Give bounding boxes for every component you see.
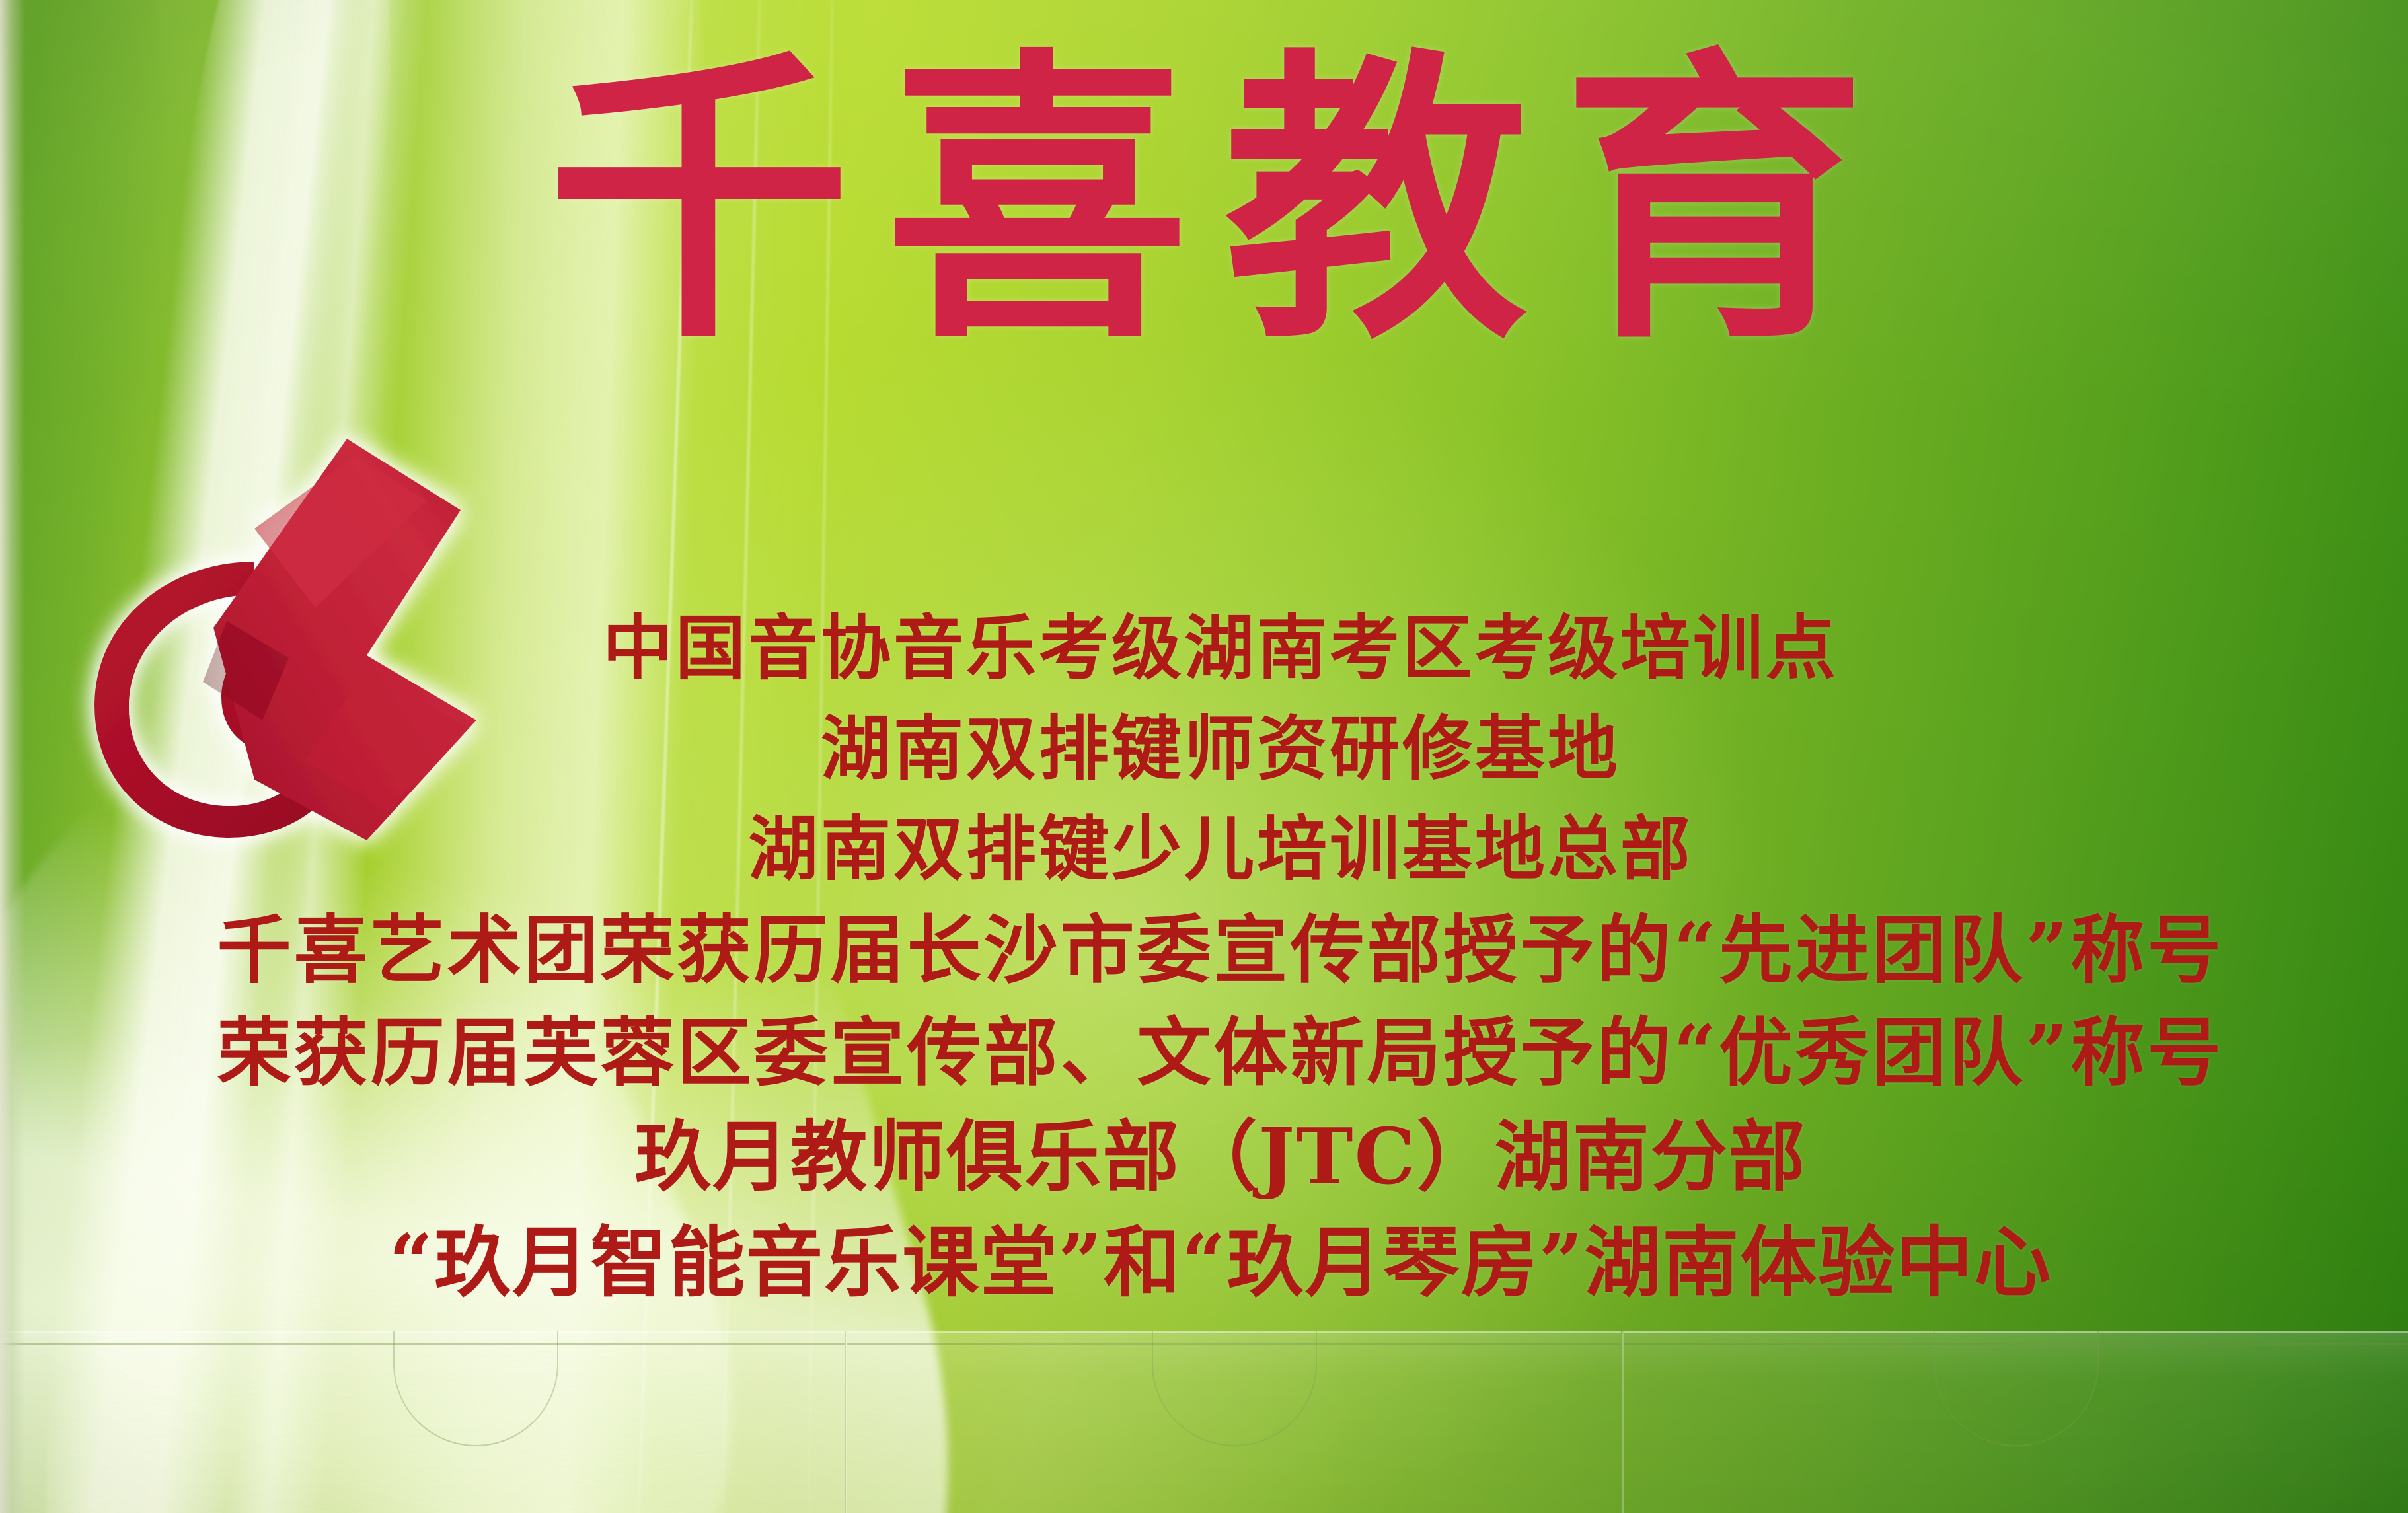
brochure-holder-rack <box>0 1331 2408 1513</box>
holder-thumb-notch <box>1934 1331 2099 1446</box>
brand-name: 千喜教育 <box>547 46 1900 356</box>
page-title: 千喜教育 <box>0 46 2408 356</box>
brochure-holder-right[interactable] <box>1622 1331 2408 1513</box>
brochure-holder-left[interactable] <box>0 1331 846 1513</box>
brochure-holder-center[interactable] <box>846 1331 1622 1513</box>
credential-line: 湖南双排键少儿培训基地总部 <box>33 799 2408 899</box>
credentials-list: 中国音协音乐考级湖南考区考级培训点 湖南双排键师资研修基地 湖南双排键少儿培训基… <box>0 598 2408 1315</box>
credential-line: 荣获历届芙蓉区委宣传部、文体新局授予的“优秀团队”称号 <box>33 1002 2408 1104</box>
signboard-panel: 千喜教育 中国音协音乐考级湖南考区考级培训点 湖南双排键师资研修基地 湖南双排键… <box>0 0 2408 1513</box>
holder-thumb-notch <box>1152 1331 1317 1446</box>
credential-line: 湖南双排键师资研修基地 <box>33 698 2408 799</box>
credential-line: 中国音协音乐考级湖南考区考级培训点 <box>33 598 2408 698</box>
credential-line: “玖月智能音乐课堂”和“玖月琴房”湖南体验中心 <box>33 1210 2408 1315</box>
credential-line: 千喜艺术团荣获历届长沙市委宣传部授予的“先进团队”称号 <box>33 899 2408 1002</box>
credential-line: 玖月教师俱乐部（JTC）湖南分部 <box>33 1104 2408 1210</box>
holder-thumb-notch <box>393 1331 558 1446</box>
